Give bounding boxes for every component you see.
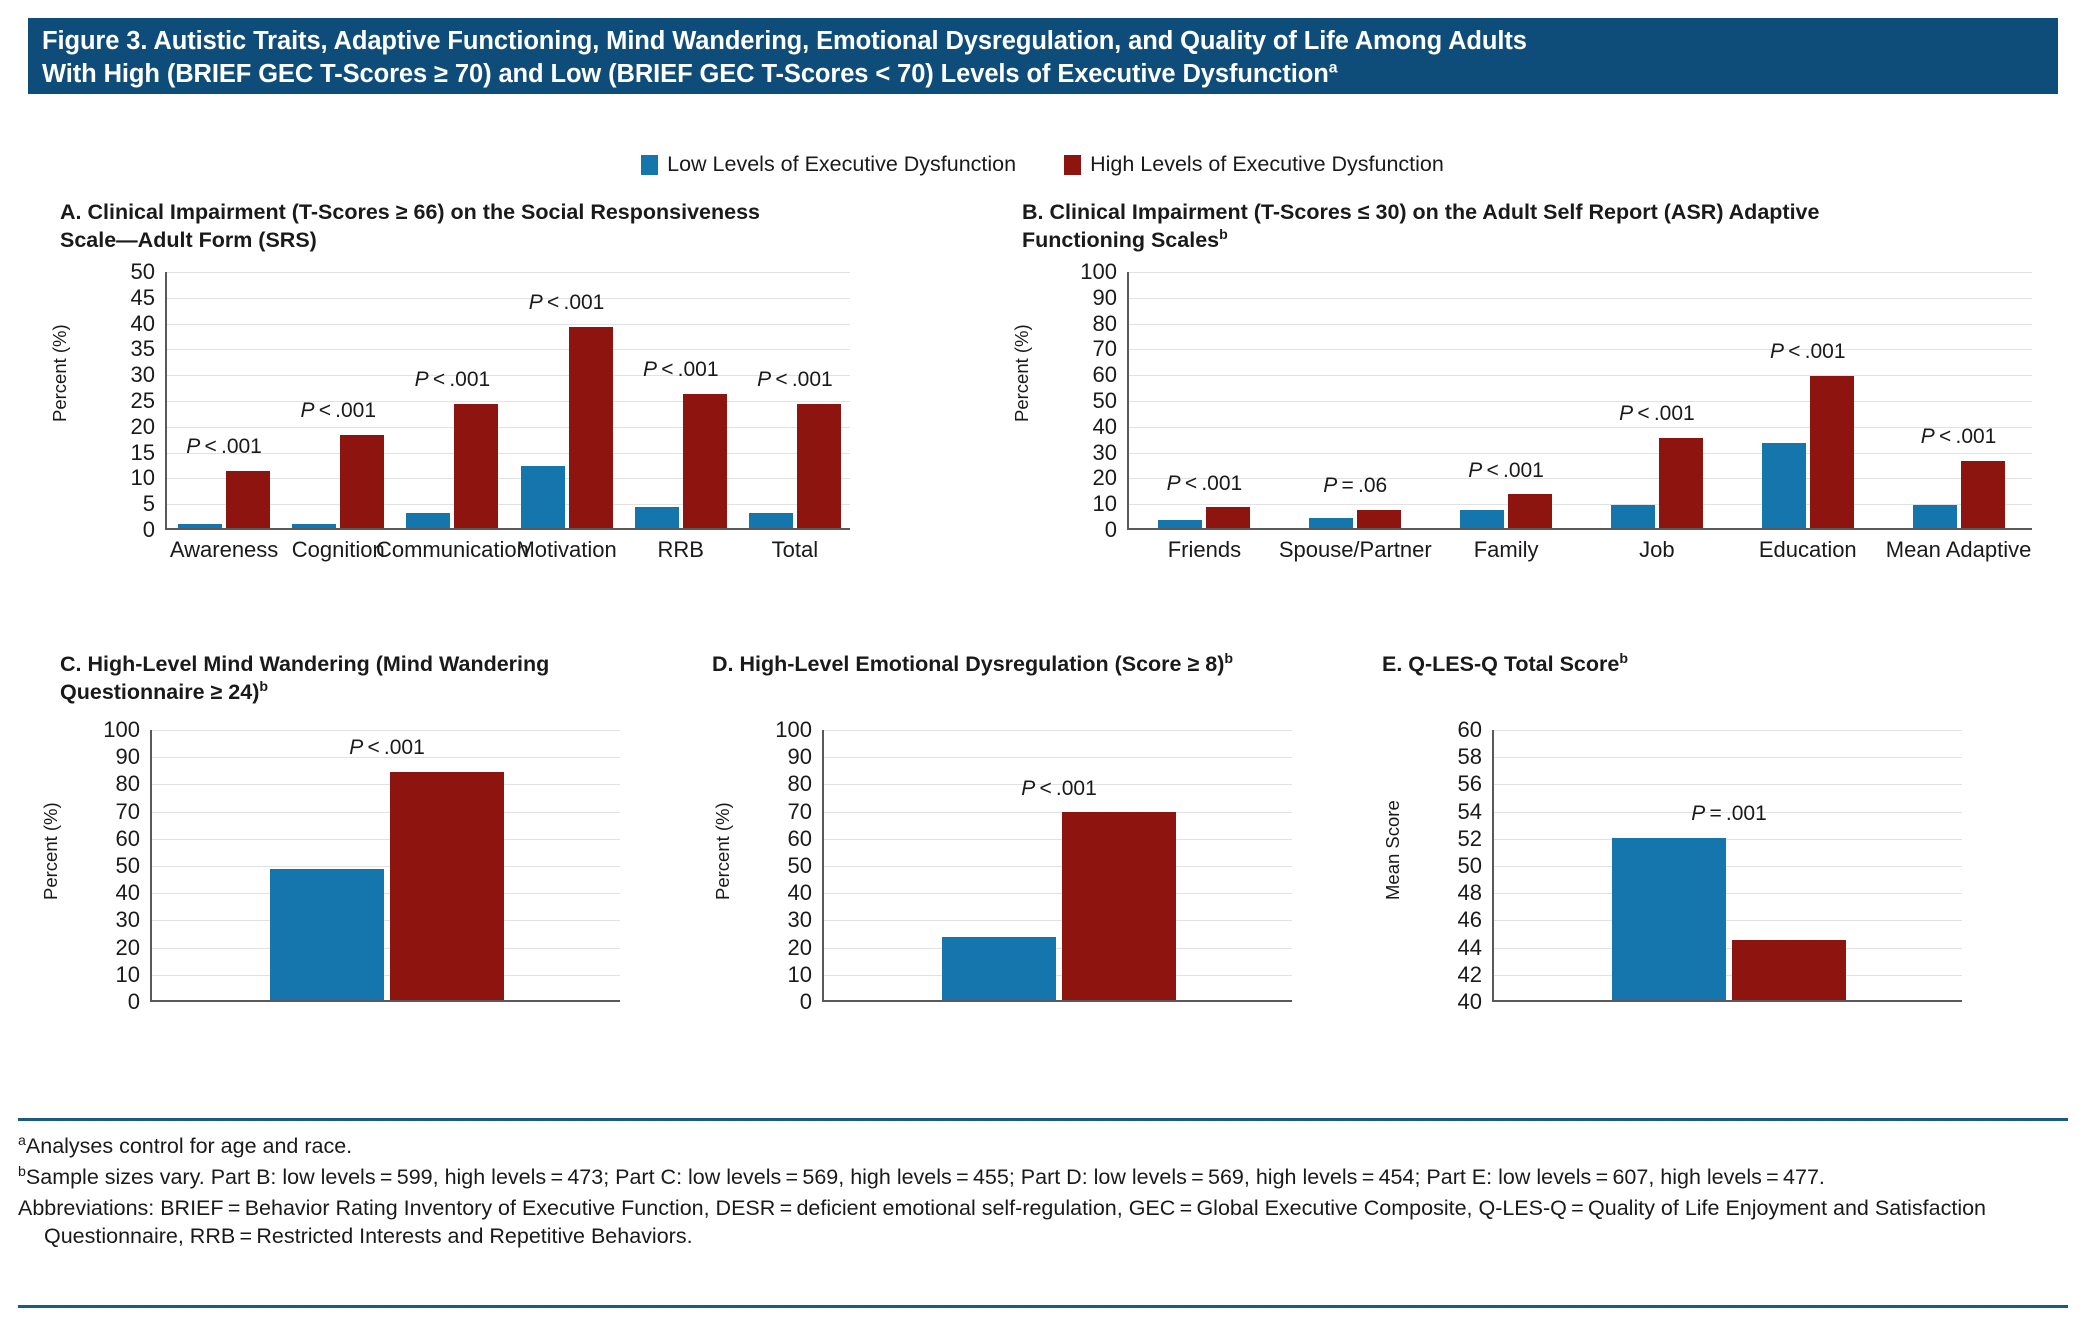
bar-low-level	[1460, 510, 1504, 528]
y-axis-tick-label: 10	[54, 962, 140, 988]
panel-a: A. Clinical Impairment (T-Scores ≥ 66) o…	[60, 198, 990, 254]
y-axis-tick-label: 20	[1025, 465, 1117, 491]
bar-low-level	[406, 513, 450, 528]
panel-c: C. High-Level Mind Wandering (Mind Wande…	[60, 650, 680, 706]
y-axis-tick-label: 15	[63, 440, 155, 466]
gridline	[152, 730, 620, 731]
y-axis-tick-label: 90	[726, 744, 812, 770]
panel-b-title-line-2: Functioning Scalesb	[1022, 226, 2062, 254]
legend-item-high: High Levels of Executive Dysfunction	[1064, 152, 1444, 177]
figure-title-banner: Figure 3. Autistic Traits, Adaptive Func…	[28, 18, 2058, 94]
bar-high-level	[390, 772, 504, 1000]
panel-c-axes: P < .001	[150, 730, 620, 1002]
gridline	[167, 375, 850, 376]
y-axis-tick-label: 30	[54, 907, 140, 933]
gridline	[152, 812, 620, 813]
x-axis-tick-label: Cognition	[292, 528, 385, 563]
y-axis-tick-label: 50	[63, 259, 155, 285]
panel-e: E. Q-LES-Q Total Scoreb	[1382, 650, 2002, 678]
panel-e-title-line-1: E. Q-LES-Q Total Scoreb	[1382, 650, 2002, 678]
bar-high-level	[454, 404, 498, 528]
p-value-annotation: P < .001	[186, 435, 262, 459]
y-axis-tick-label: 10	[1025, 491, 1117, 517]
y-axis-tick-label: 0	[63, 517, 155, 543]
y-axis-tick-label: 60	[1025, 362, 1117, 388]
y-axis-tick-label: 0	[726, 989, 812, 1015]
gridline	[824, 839, 1292, 840]
gridline	[167, 298, 850, 299]
gridline	[1494, 948, 1962, 949]
figure-title-line-1: Figure 3. Autistic Traits, Adaptive Func…	[42, 25, 2044, 58]
y-axis-tick-label: 40	[1396, 989, 1482, 1015]
x-axis-tick-label: Communication	[376, 528, 529, 563]
gridline	[1494, 975, 1962, 976]
figure-title-line-2-text: With High (BRIEF GEC T-Scores ≥ 70) and …	[42, 60, 1329, 88]
panel-c-plot-area: Percent (%)P < .001010203040506070809010…	[40, 730, 660, 1090]
y-axis-tick-label: 25	[63, 388, 155, 414]
panel-e-plot-area: Mean ScoreP = .0014042444648505254565860	[1382, 730, 2002, 1090]
panel-c-footnote-marker: b	[259, 679, 268, 695]
bar-high-level	[1206, 507, 1250, 528]
y-axis-tick-label: 10	[726, 962, 812, 988]
gridline	[167, 324, 850, 325]
y-axis-tick-label: 20	[63, 414, 155, 440]
gridline	[167, 453, 850, 454]
y-axis-tick-label: 70	[726, 799, 812, 825]
gridline	[1129, 453, 2032, 454]
panel-e-axes: P = .001	[1492, 730, 1962, 1002]
panel-e-title-line-1-text: E. Q-LES-Q Total Score	[1382, 652, 1619, 676]
x-axis-tick-label: Family	[1474, 528, 1539, 563]
gridline	[167, 272, 850, 273]
footnote-abbreviations-text: Abbreviations: BRIEF = Behavior Rating I…	[18, 1196, 1986, 1249]
gridline	[824, 920, 1292, 921]
p-value-annotation: P < .001	[529, 291, 605, 315]
footnote-a-marker: a	[18, 1133, 26, 1149]
y-axis-tick-label: 50	[1025, 388, 1117, 414]
legend-swatch-low-icon	[641, 155, 658, 175]
gridline	[152, 975, 620, 976]
bar-low-level	[270, 869, 384, 1000]
panel-b-footnote-marker: b	[1219, 227, 1228, 243]
gridline	[824, 757, 1292, 758]
y-axis-tick-label: 40	[1025, 414, 1117, 440]
y-axis-tick-label: 20	[726, 935, 812, 961]
y-axis-tick-label: 35	[63, 336, 155, 362]
footnote-abbreviations: Abbreviations: BRIEF = Behavior Rating I…	[18, 1194, 2068, 1251]
p-value-annotation: P < .001	[1468, 459, 1544, 483]
y-axis-tick-label: 40	[63, 311, 155, 337]
footnote-b-text: Sample sizes vary. Part B: low levels = …	[26, 1165, 1825, 1189]
bar-high-level	[797, 404, 841, 528]
y-axis-tick-label: 56	[1396, 771, 1482, 797]
gridline	[1494, 784, 1962, 785]
gridline	[152, 839, 620, 840]
p-value-annotation: P < .001	[415, 368, 491, 392]
p-value-annotation: P = .001	[1691, 802, 1767, 826]
legend-label-low: Low Levels of Executive Dysfunction	[667, 152, 1016, 177]
bar-high-level	[1659, 438, 1703, 528]
y-axis-tick-label: 100	[1025, 259, 1117, 285]
y-axis-tick-label: 50	[726, 853, 812, 879]
panel-b-title-line-1: B. Clinical Impairment (T-Scores ≤ 30) o…	[1022, 198, 2062, 226]
bar-low-level	[1913, 505, 1957, 528]
panel-e-footnote-marker: b	[1619, 651, 1628, 667]
p-value-annotation: P = .06	[1323, 474, 1387, 498]
bar-low-level	[521, 466, 565, 528]
bar-low-level	[749, 513, 793, 528]
p-value-annotation: P < .001	[349, 736, 425, 760]
bar-high-level	[1961, 461, 2005, 528]
p-value-annotation: P < .001	[1167, 472, 1243, 496]
panel-b-axes: P < .001FriendsP = .06Spouse/PartnerP < …	[1127, 272, 2032, 530]
gridline	[1129, 478, 2032, 479]
gridline	[824, 975, 1292, 976]
y-axis-tick-label: 100	[726, 717, 812, 743]
p-value-annotation: P < .001	[300, 399, 376, 423]
panel-d-title-line-1: D. High-Level Emotional Dysregulation (S…	[712, 650, 1352, 678]
y-axis-tick-label: 10	[63, 465, 155, 491]
gridline	[152, 920, 620, 921]
gridline	[1494, 839, 1962, 840]
y-axis-tick-label: 44	[1396, 935, 1482, 961]
panel-b: B. Clinical Impairment (T-Scores ≤ 30) o…	[1022, 198, 2062, 254]
gridline	[152, 948, 620, 949]
y-axis-tick-label: 20	[54, 935, 140, 961]
bar-high-level	[1732, 940, 1846, 1000]
bar-high-level	[1810, 376, 1854, 528]
gridline	[152, 866, 620, 867]
x-axis-tick-label: Mean Adaptive	[1886, 528, 2032, 563]
p-value-annotation: P < .001	[757, 368, 833, 392]
y-axis-tick-label: 45	[63, 285, 155, 311]
gridline	[1129, 504, 2032, 505]
gridline	[1494, 866, 1962, 867]
panel-d-axes: P < .001	[822, 730, 1292, 1002]
y-axis-tick-label: 80	[726, 771, 812, 797]
x-axis-tick-label: Friends	[1168, 528, 1241, 563]
gridline	[1494, 893, 1962, 894]
footnote-bottom-rule	[18, 1305, 2068, 1308]
footnote-top-rule	[18, 1118, 2068, 1121]
x-axis-tick-label: Job	[1639, 528, 1674, 563]
panel-a-title-line-1: A. Clinical Impairment (T-Scores ≥ 66) o…	[60, 198, 990, 226]
chart-legend: Low Levels of Executive Dysfunction High…	[0, 152, 2085, 177]
panel-c-title-line-2: Questionnaire ≥ 24)b	[60, 678, 680, 706]
y-axis-tick-label: 30	[726, 907, 812, 933]
bar-high-level	[1062, 812, 1176, 1000]
gridline	[167, 427, 850, 428]
gridline	[167, 349, 850, 350]
y-axis-tick-label: 46	[1396, 907, 1482, 933]
gridline	[1129, 349, 2032, 350]
p-value-annotation: P < .001	[1021, 777, 1097, 801]
panel-e-title: E. Q-LES-Q Total Scoreb	[1382, 650, 2002, 678]
footnote-a-text: Analyses control for age and race.	[26, 1134, 352, 1158]
panel-d-footnote-marker: b	[1224, 651, 1233, 667]
footnote-b-marker: b	[18, 1164, 26, 1180]
y-axis-tick-label: 90	[54, 744, 140, 770]
gridline	[824, 812, 1292, 813]
y-axis-tick-label: 100	[54, 717, 140, 743]
p-value-annotation: P < .001	[1921, 425, 1997, 449]
panel-a-title-line-2: Scale—Adult Form (SRS)	[60, 226, 990, 254]
gridline	[1129, 375, 2032, 376]
y-axis-tick-label: 50	[1396, 853, 1482, 879]
footnote-b: bSample sizes vary. Part B: low levels =…	[18, 1163, 2068, 1192]
y-axis-tick-label: 30	[1025, 440, 1117, 466]
p-value-annotation: P < .001	[1619, 402, 1695, 426]
gridline	[824, 948, 1292, 949]
panel-a-title: A. Clinical Impairment (T-Scores ≥ 66) o…	[60, 198, 990, 254]
panel-c-title-line-2-text: Questionnaire ≥ 24)	[60, 680, 259, 704]
panel-b-title-line-2-text: Functioning Scales	[1022, 228, 1219, 252]
bar-low-level	[942, 937, 1056, 1000]
footnote-a: aAnalyses control for age and race.	[18, 1132, 2068, 1161]
panel-a-plot-area: Percent (%)P < .001AwarenessP < .001Cogn…	[60, 272, 990, 587]
gridline	[1129, 272, 2032, 273]
x-axis-tick-label: Total	[772, 528, 818, 563]
bar-high-level	[226, 471, 270, 528]
y-axis-tick-label: 54	[1396, 799, 1482, 825]
figure-title-line-2: With High (BRIEF GEC T-Scores ≥ 70) and …	[42, 58, 2044, 91]
x-axis-tick-label: Spouse/Partner	[1279, 528, 1432, 563]
y-axis-tick-label: 42	[1396, 962, 1482, 988]
gridline	[1494, 730, 1962, 731]
panel-d: D. High-Level Emotional Dysregulation (S…	[712, 650, 1352, 678]
gridline	[1494, 920, 1962, 921]
x-axis-tick-label: Education	[1759, 528, 1857, 563]
y-axis-tick-label: 40	[726, 880, 812, 906]
bar-high-level	[340, 435, 384, 528]
gridline	[167, 401, 850, 402]
y-axis-tick-label: 80	[1025, 311, 1117, 337]
panel-c-title: C. High-Level Mind Wandering (Mind Wande…	[60, 650, 680, 706]
legend-label-high: High Levels of Executive Dysfunction	[1090, 152, 1444, 177]
y-axis-tick-label: 5	[63, 491, 155, 517]
bar-high-level	[683, 394, 727, 528]
figure-footnotes: aAnalyses control for age and race. bSam…	[18, 1132, 2068, 1253]
p-value-annotation: P < .001	[1770, 340, 1846, 364]
x-axis-tick-label: Motivation	[516, 528, 616, 563]
panel-c-title-line-1: C. High-Level Mind Wandering (Mind Wande…	[60, 650, 680, 678]
panel-d-title-line-1-text: D. High-Level Emotional Dysregulation (S…	[712, 652, 1224, 676]
gridline	[152, 893, 620, 894]
panel-d-plot-area: Percent (%)P < .001010203040506070809010…	[712, 730, 1332, 1090]
gridline	[824, 893, 1292, 894]
gridline	[824, 730, 1292, 731]
y-axis-tick-label: 48	[1396, 880, 1482, 906]
legend-swatch-high-icon	[1064, 155, 1081, 175]
y-axis-tick-label: 52	[1396, 826, 1482, 852]
bar-low-level	[1158, 520, 1202, 528]
y-axis-tick-label: 70	[1025, 336, 1117, 362]
panel-b-plot-area: Percent (%)P < .001FriendsP = .06Spouse/…	[1022, 272, 2062, 587]
y-axis-tick-label: 58	[1396, 744, 1482, 770]
gridline	[152, 784, 620, 785]
gridline	[824, 866, 1292, 867]
gridline	[1129, 324, 2032, 325]
y-axis-tick-label: 60	[1396, 717, 1482, 743]
gridline	[1129, 298, 2032, 299]
bar-low-level	[1762, 443, 1806, 528]
y-axis-tick-label: 90	[1025, 285, 1117, 311]
x-axis-tick-label: Awareness	[170, 528, 278, 563]
gridline	[1494, 757, 1962, 758]
figure-title-footnote-marker: a	[1329, 59, 1338, 76]
bar-low-level	[1612, 838, 1726, 1000]
gridline	[1129, 427, 2032, 428]
y-axis-tick-label: 60	[54, 826, 140, 852]
bar-low-level	[1309, 518, 1353, 528]
y-axis-tick-label: 70	[54, 799, 140, 825]
bar-low-level	[1611, 505, 1655, 528]
panel-a-axes: P < .001AwarenessP < .001CognitionP < .0…	[165, 272, 850, 530]
y-axis-tick-label: 30	[63, 362, 155, 388]
panel-b-title: B. Clinical Impairment (T-Scores ≤ 30) o…	[1022, 198, 2062, 254]
y-axis-tick-label: 60	[726, 826, 812, 852]
gridline	[1129, 401, 2032, 402]
y-axis-tick-label: 0	[1025, 517, 1117, 543]
bar-high-level	[569, 327, 613, 528]
x-axis-tick-label: RRB	[658, 528, 704, 563]
bar-low-level	[635, 507, 679, 528]
y-axis-tick-label: 40	[54, 880, 140, 906]
legend-item-low: Low Levels of Executive Dysfunction	[641, 152, 1016, 177]
y-axis-tick-label: 0	[54, 989, 140, 1015]
bar-high-level	[1508, 494, 1552, 528]
p-value-annotation: P < .001	[643, 358, 719, 382]
panel-d-title: D. High-Level Emotional Dysregulation (S…	[712, 650, 1352, 678]
y-axis-tick-label: 50	[54, 853, 140, 879]
y-axis-tick-label: 80	[54, 771, 140, 797]
bar-high-level	[1357, 510, 1401, 528]
